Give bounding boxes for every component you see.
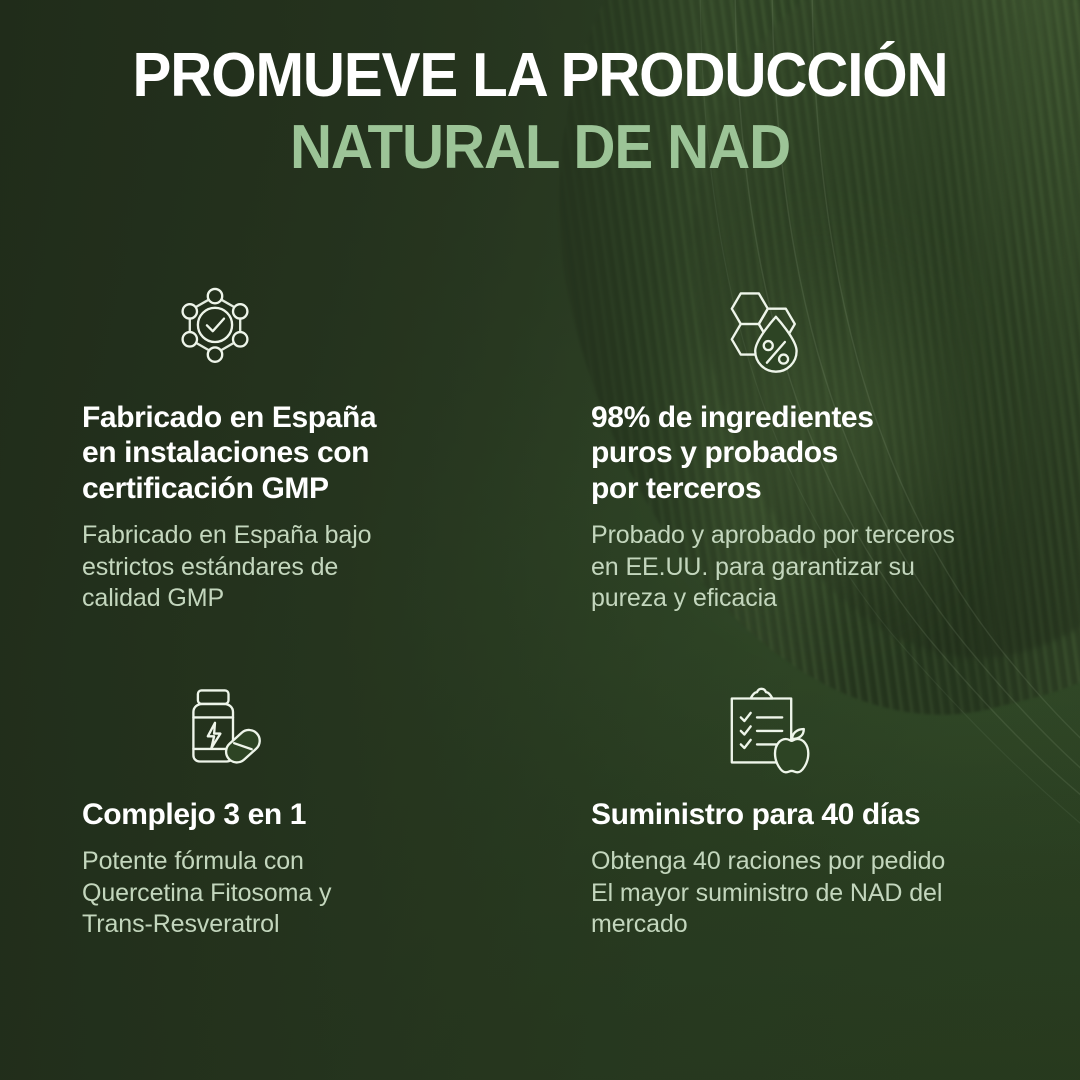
headline: PROMUEVE LA PRODUCCIÓN NATURAL DE NAD	[0, 44, 1080, 180]
feature-description: Obtenga 40 raciones por pedido El mayor …	[591, 846, 1058, 941]
feature-title: 98% de ingredientes puros y probados por…	[591, 400, 1058, 506]
feature-grid: Fabricado en España en instalaciones con…	[0, 288, 1080, 941]
feature-item-purity: 98% de ingredientes puros y probados por…	[0, 288, 1080, 615]
honeycomb-droplet-percent-icon	[721, 288, 811, 378]
feature-row: Complejo 3 en 1 Potente fórmula con Quer…	[0, 685, 1080, 941]
feature-title: Suministro para 40 días	[591, 797, 1058, 832]
headline-line-accent: NATURAL DE NAD	[32, 116, 1047, 180]
feature-row: Fabricado en España en instalaciones con…	[0, 288, 1080, 615]
feature-description: Probado y aprobado por terceros en EE.UU…	[591, 520, 1058, 615]
clipboard-checklist-apple-icon	[721, 685, 811, 775]
feature-item-supply: Suministro para 40 días Obtenga 40 racio…	[0, 685, 1080, 941]
promo-poster: PROMUEVE LA PRODUCCIÓN NATURAL DE NAD	[0, 0, 1080, 1080]
headline-line-primary: PROMUEVE LA PRODUCCIÓN	[32, 44, 1047, 108]
